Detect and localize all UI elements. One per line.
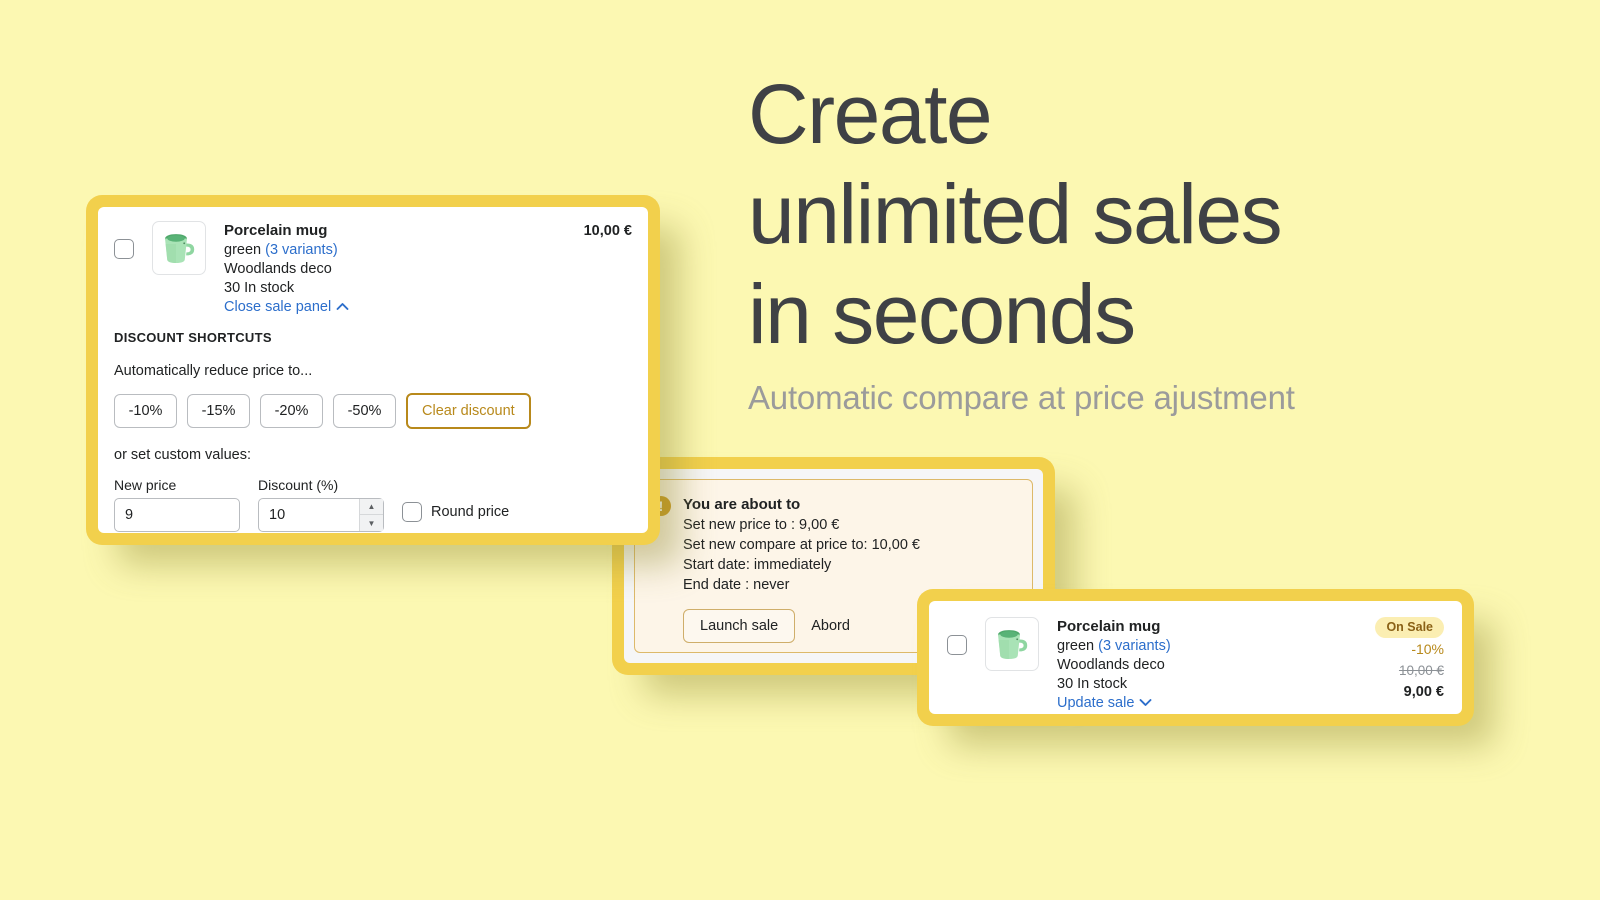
new-price-value: 9	[125, 507, 229, 523]
on-sale-product-row: Porcelain mug green (3 variants) Woodlan…	[947, 617, 1444, 713]
page-subtitle: Automatic compare at price ajustment	[748, 378, 1448, 418]
on-sale-product-vendor: Woodlands deco	[1057, 656, 1363, 675]
discount-50-button[interactable]: -50%	[333, 394, 396, 428]
close-sale-panel-label: Close sale panel	[224, 298, 331, 317]
product-price: 10,00 €	[574, 223, 632, 239]
status-badge: On Sale	[1375, 617, 1444, 638]
discount-20-button[interactable]: -20%	[260, 394, 323, 428]
on-sale-product-stock: 30 In stock	[1057, 675, 1363, 694]
confirmation-title: You are about to	[683, 494, 1016, 515]
update-sale-label: Update sale	[1057, 694, 1134, 713]
round-price-group[interactable]: Round price	[402, 502, 509, 522]
on-sale-product-thumbnail	[985, 617, 1039, 671]
confirm-line-start-date: Start date: immediately	[683, 555, 1016, 575]
discount-15-button[interactable]: -15%	[187, 394, 250, 428]
product-title: Porcelain mug	[224, 221, 574, 241]
discount-10-button[interactable]: -10%	[114, 394, 177, 428]
chevron-up-icon	[336, 298, 349, 317]
chevron-down-icon	[1139, 694, 1152, 713]
round-price-label: Round price	[431, 504, 509, 520]
on-sale-product-info: Porcelain mug green (3 variants) Woodlan…	[1057, 617, 1363, 713]
update-sale-link[interactable]: Update sale	[1057, 694, 1152, 713]
product-select-checkbox[interactable]	[114, 239, 134, 259]
abord-button[interactable]: Abord	[811, 618, 850, 634]
sale-panel-body: Porcelain mug green (3 variants) Woodlan…	[98, 207, 648, 533]
quantity-stepper[interactable]: ▲ ▼	[359, 499, 383, 531]
on-sale-product-card: Porcelain mug green (3 variants) Woodlan…	[917, 589, 1474, 726]
new-price-label: New price	[114, 477, 240, 493]
new-price-input[interactable]: 9	[114, 498, 240, 532]
compare-at-price: 10,00 €	[1399, 661, 1444, 680]
product-row: Porcelain mug green (3 variants) Woodlan…	[114, 221, 632, 317]
custom-values-label: or set custom values:	[114, 447, 632, 463]
custom-value-fields: New price 9 Enter a new price Discount (…	[114, 477, 632, 533]
discount-input[interactable]: 10 ▲ ▼	[258, 498, 384, 532]
caret-up-icon[interactable]: ▲	[360, 499, 383, 515]
product-thumbnail	[152, 221, 206, 275]
product-info: Porcelain mug green (3 variants) Woodlan…	[224, 221, 574, 317]
confirm-line-new-price: Set new price to : 9,00 €	[683, 515, 1016, 535]
on-sale-product-title: Porcelain mug	[1057, 617, 1363, 637]
caret-down-icon[interactable]: ▼	[360, 515, 383, 531]
percent-off: -10%	[1411, 640, 1444, 659]
on-sale-product-variant: green (3 variants)	[1057, 637, 1363, 656]
auto-reduce-label: Automatically reduce price to...	[114, 363, 632, 379]
confirm-line-compare-price: Set new compare at price to: 10,00 €	[683, 535, 1016, 555]
on-sale-variant-color: green	[1057, 638, 1094, 654]
product-vendor: Woodlands deco	[224, 260, 574, 279]
mug-icon	[990, 622, 1034, 666]
on-sale-price-column: On Sale -10% 10,00 € 9,00 €	[1363, 617, 1444, 702]
page-title: Create unlimited sales in seconds	[748, 64, 1448, 364]
launch-sale-button[interactable]: Launch sale	[683, 609, 795, 643]
new-price-field-group: New price 9 Enter a new price	[114, 477, 240, 533]
variant-count-link[interactable]: (3 variants)	[265, 242, 338, 258]
hero-section: Create unlimited sales in seconds Automa…	[748, 64, 1448, 418]
round-price-checkbox[interactable]	[402, 502, 422, 522]
on-sale-card-body: Porcelain mug green (3 variants) Woodlan…	[929, 601, 1462, 714]
close-sale-panel-link[interactable]: Close sale panel	[224, 298, 349, 317]
product-variant: green (3 variants)	[224, 241, 574, 260]
sale-panel-card: Porcelain mug green (3 variants) Woodlan…	[86, 195, 660, 545]
on-sale-variant-count-link[interactable]: (3 variants)	[1098, 638, 1171, 654]
discount-label: Discount (%)	[258, 477, 384, 493]
discount-field-group: Discount (%) 10 ▲ ▼ Enter a discount (%)	[258, 477, 384, 533]
product-stock: 30 In stock	[224, 279, 574, 298]
discount-value: 10	[269, 507, 359, 523]
current-price: 9,00 €	[1404, 682, 1444, 702]
variant-color: green	[224, 242, 261, 258]
clear-discount-button[interactable]: Clear discount	[406, 393, 531, 429]
mug-icon	[157, 226, 201, 270]
discount-shortcut-buttons: -10% -15% -20% -50% Clear discount	[114, 393, 632, 429]
on-sale-select-checkbox[interactable]	[947, 635, 967, 655]
discount-shortcuts-heading: DISCOUNT SHORTCUTS	[114, 330, 632, 345]
